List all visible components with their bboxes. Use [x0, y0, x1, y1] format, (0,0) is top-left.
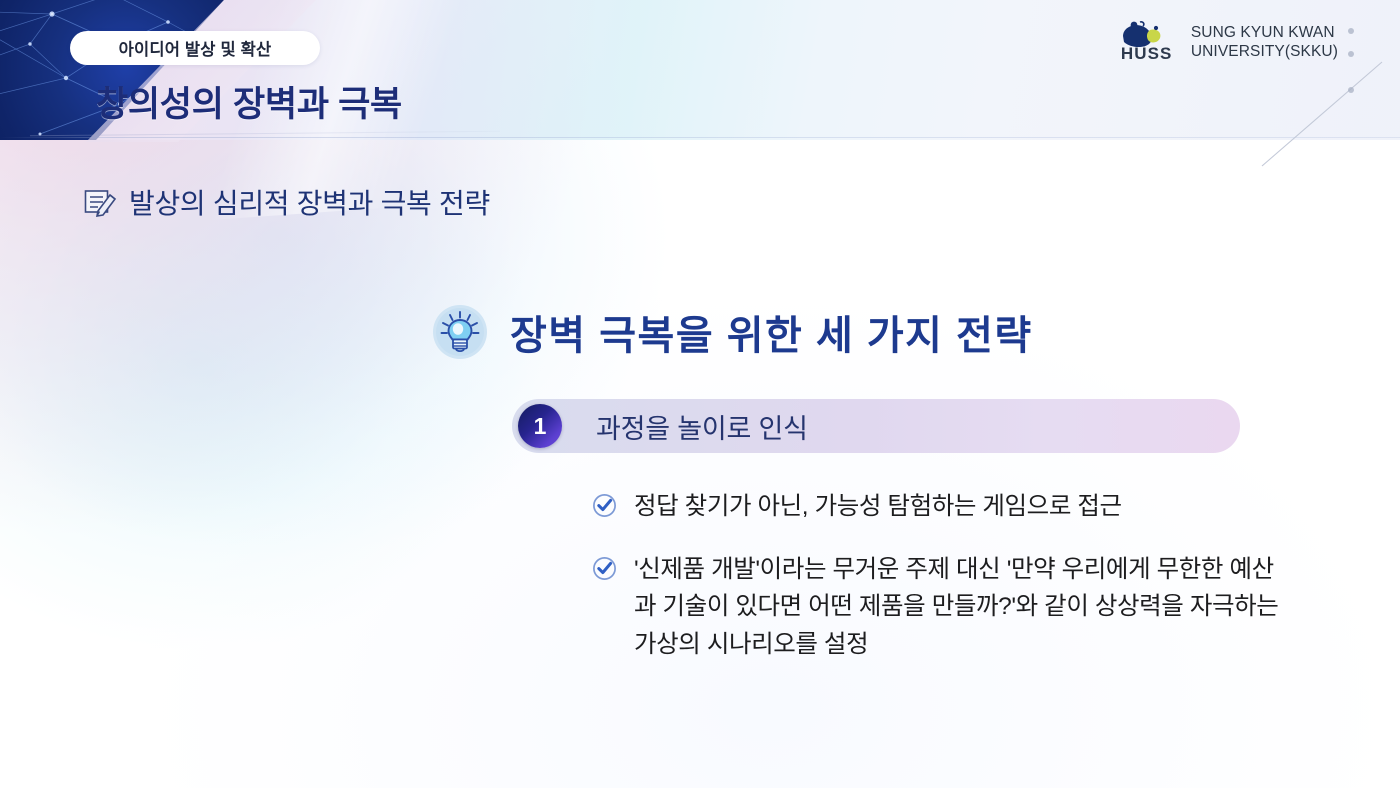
- list-item: 정답 찾기가 아닌, 가능성 탐험하는 게임으로 접근: [592, 488, 1292, 525]
- university-logo: HUSS SUNG KYUN KWAN UNIVERSITY(SKKU): [1120, 20, 1338, 64]
- section-heading: 발상의 심리적 장벽과 극복 전략: [84, 182, 490, 222]
- lightbulb-icon: [432, 304, 488, 360]
- section-heading-label: 발상의 심리적 장벽과 극복 전략: [129, 182, 490, 222]
- strategy-label: 과정을 놀이로 인식: [596, 407, 808, 446]
- list-item-text: '신제품 개발'이라는 무거운 주제 대신 '만약 우리에게 무한한 예산과 기…: [634, 551, 1292, 663]
- topic-tag-pill: 아이디어 발상 및 확산: [70, 31, 320, 65]
- university-name-line2: UNIVERSITY(SKKU): [1191, 42, 1338, 61]
- decorative-dot: [1348, 28, 1354, 34]
- university-name-line1: SUNG KYUN KWAN: [1191, 23, 1338, 42]
- strategy-bar: 1 과정을 놀이로 인식: [512, 399, 1240, 453]
- main-heading: 장벽 극복을 위한 세 가지 전략: [432, 303, 1033, 361]
- decorative-dots: [1348, 28, 1354, 110]
- huss-logo-mark: HUSS: [1120, 20, 1180, 64]
- slide-root: 아이디어 발상 및 확산 창의성의 장벽과 극복 HUSS SUNG KYUN …: [0, 0, 1400, 788]
- decorative-dot: [1348, 87, 1354, 93]
- list-item: '신제품 개발'이라는 무거운 주제 대신 '만약 우리에게 무한한 예산과 기…: [592, 551, 1292, 663]
- list-item-text: 정답 찾기가 아닌, 가능성 탐험하는 게임으로 접근: [634, 488, 1122, 525]
- bullet-list: 정답 찾기가 아닌, 가능성 탐험하는 게임으로 접근 '신제품 개발'이라는 …: [592, 488, 1292, 689]
- header-divider-line: [0, 137, 1400, 138]
- page-title: 창의성의 장벽과 극복: [96, 76, 402, 127]
- check-circle-icon: [592, 493, 617, 518]
- main-heading-label: 장벽 극복을 위한 세 가지 전략: [510, 303, 1033, 361]
- huss-wordmark: HUSS: [1121, 44, 1173, 64]
- university-name: SUNG KYUN KWAN UNIVERSITY(SKKU): [1191, 23, 1338, 61]
- strategy-number-badge: 1: [518, 404, 562, 448]
- decorative-diagonal-line: [1260, 60, 1400, 170]
- check-circle-icon: [592, 556, 617, 581]
- memo-pencil-icon: [84, 187, 117, 218]
- decorative-dot: [1348, 51, 1354, 57]
